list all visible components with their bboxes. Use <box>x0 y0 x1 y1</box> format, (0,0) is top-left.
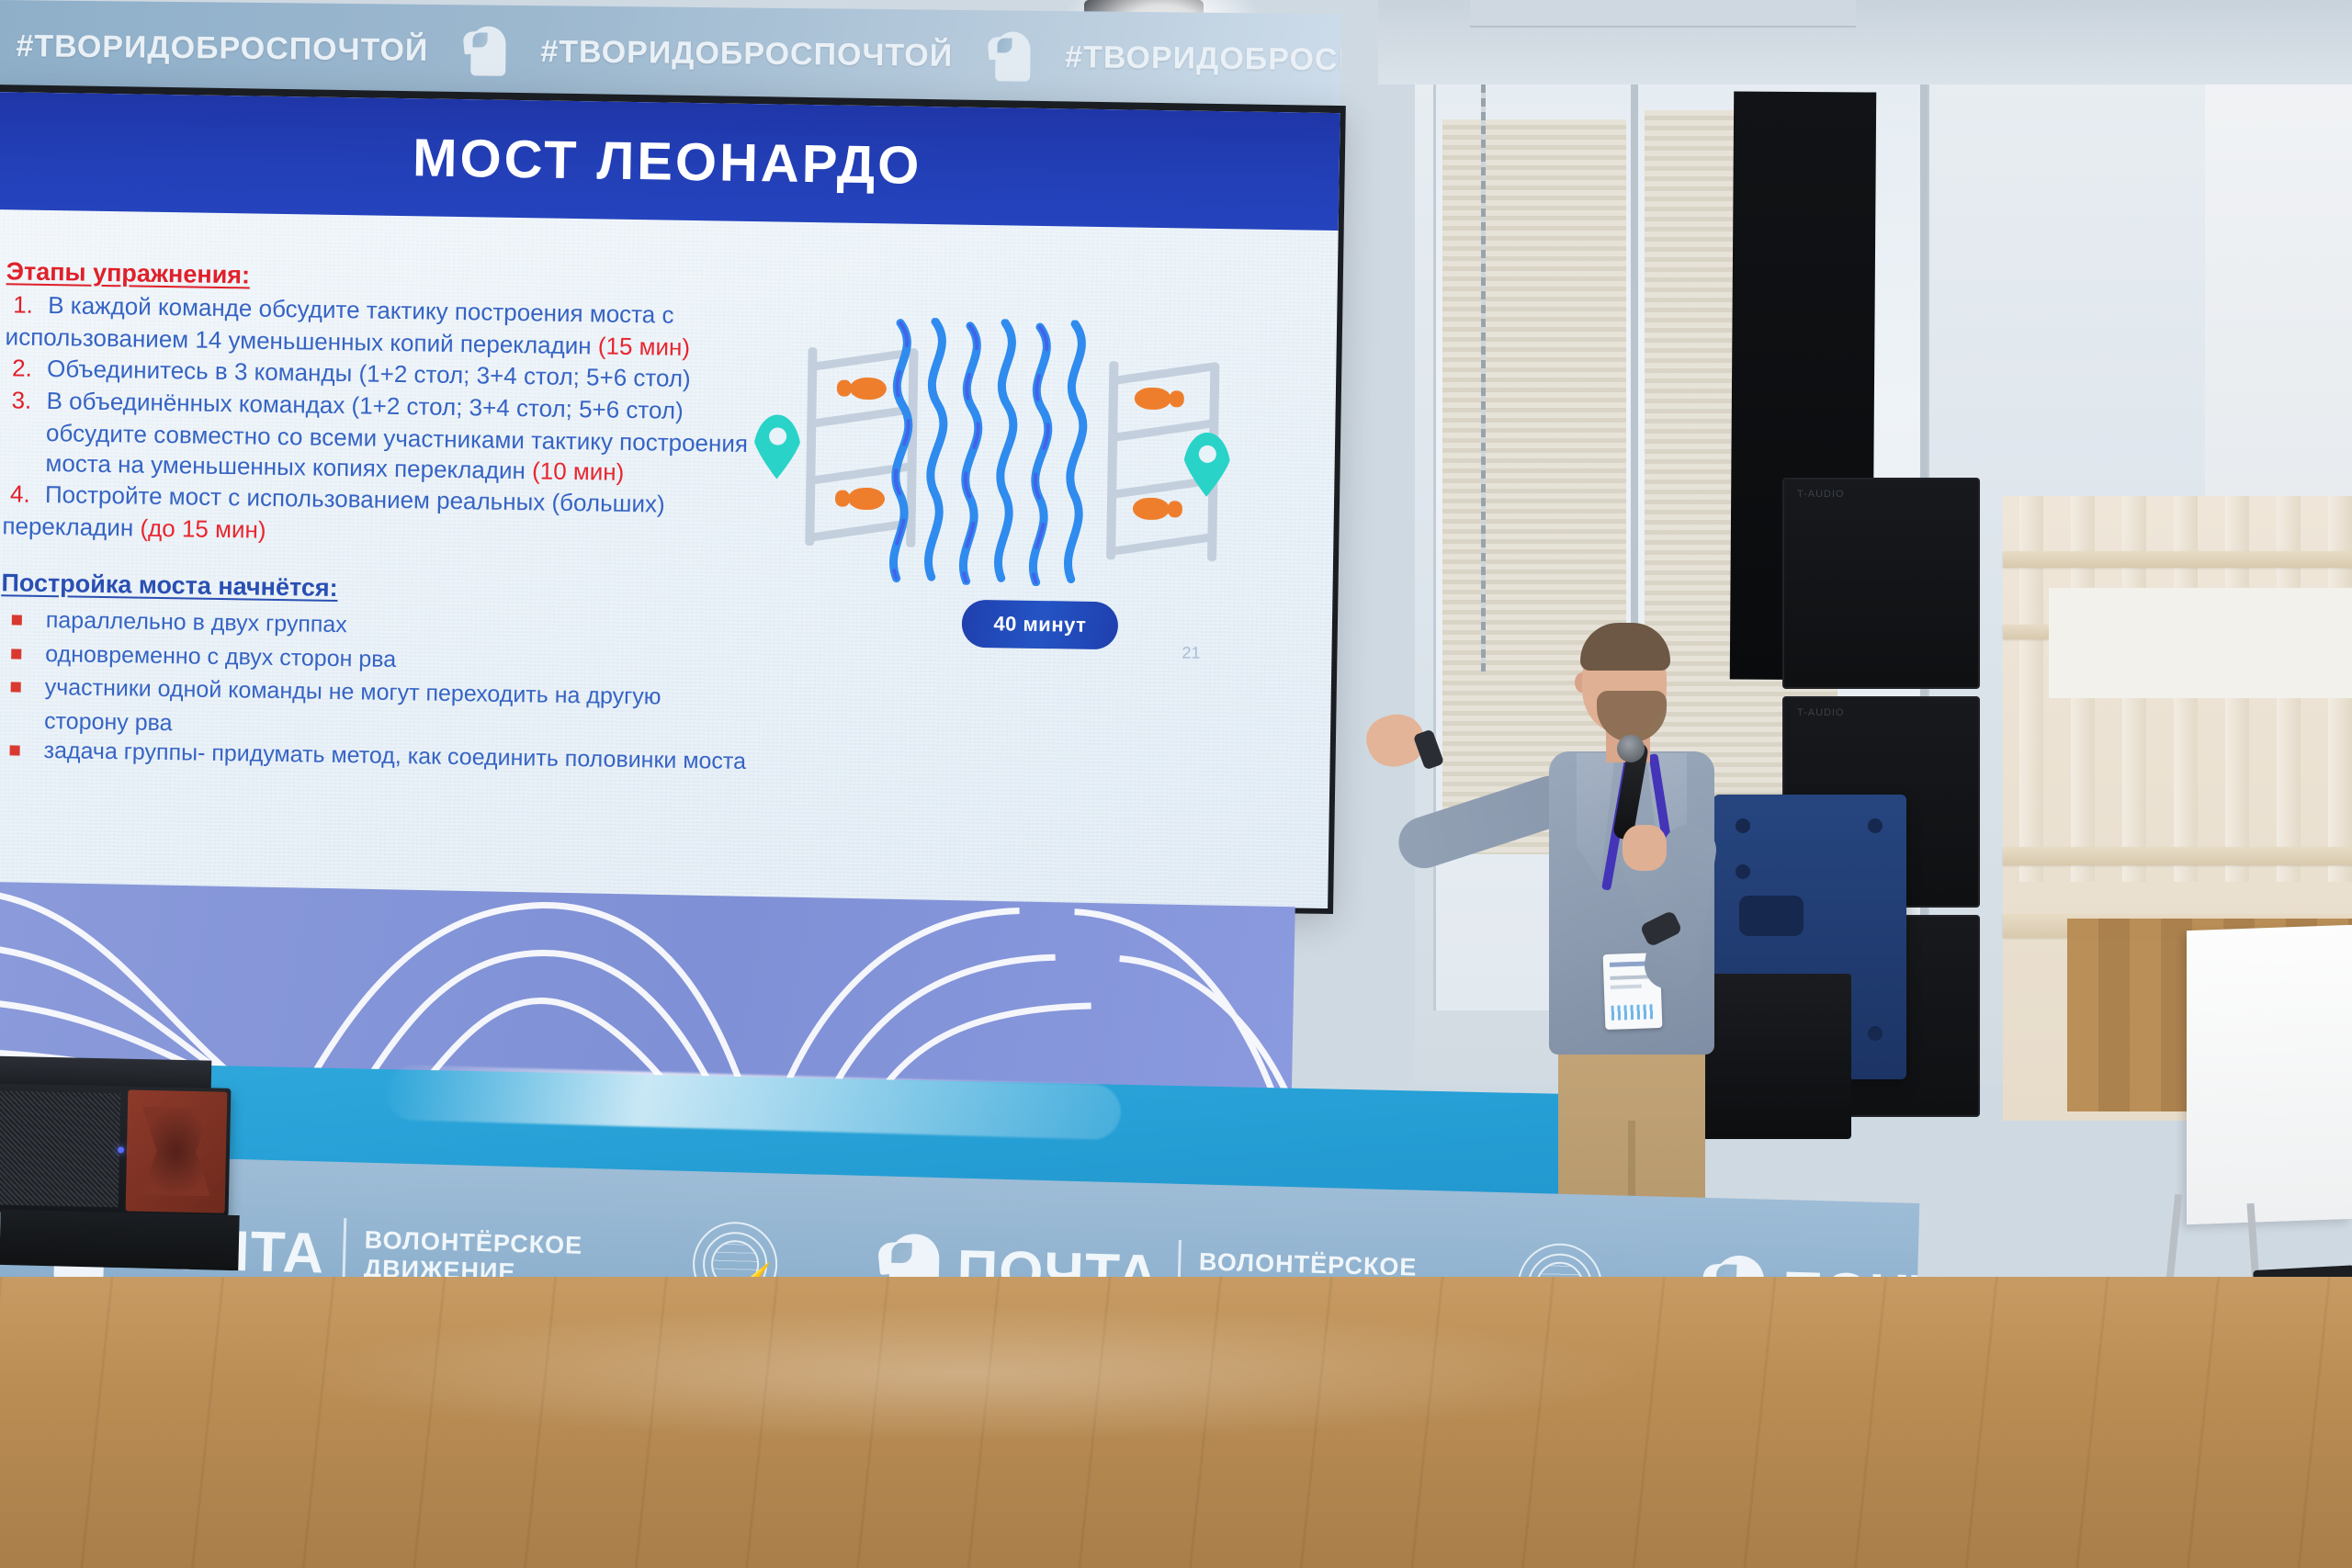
duration-label: (до 15 мин) <box>140 513 266 543</box>
bullet-square-icon <box>12 615 22 626</box>
bullet-text: параллельно в двух группах <box>46 605 347 641</box>
bracelet <box>1413 728 1444 770</box>
footprint-icon <box>1133 498 1182 521</box>
projection-screen: МОСТ ЛЕОНАРДО Этапы упражнения: 1. В каж… <box>0 85 1346 914</box>
bullet-square-icon <box>10 745 20 755</box>
duration-label: (15 мин) <box>598 333 691 362</box>
slide-title: МОСТ ЛЕОНАРДО <box>413 127 922 197</box>
bridge-illustration <box>751 313 1233 596</box>
conference-room-photo: T-AUDIO T-AUDIO T-AUDIO #ТВОРИДОБРОСПОЧТ… <box>0 0 2352 1568</box>
loudspeaker-icon <box>0 1083 231 1217</box>
footprint-icon <box>835 487 885 510</box>
pochta-envelope-icon <box>988 31 1031 81</box>
step-number: 1. <box>6 289 43 321</box>
presenter-hand <box>1623 825 1667 871</box>
power-led-icon <box>118 1146 124 1153</box>
presentation-slide: МОСТ ЛЕОНАРДО Этапы упражнения: 1. В каж… <box>0 92 1340 908</box>
ceiling-strip <box>1470 0 1856 28</box>
slide-page-number: 21 <box>1182 643 1200 662</box>
hanging-chain <box>1481 85 1486 672</box>
footprint-icon <box>1135 388 1184 411</box>
step-number: 3. <box>4 385 41 416</box>
pochta-envelope-icon <box>463 26 506 75</box>
speaker-horn <box>126 1089 228 1213</box>
floor-reflection <box>276 1304 1654 1442</box>
timer-label: 40 минут <box>993 612 1086 637</box>
slide-title-bar: МОСТ ЛЕОНАРДО <box>0 92 1340 231</box>
step-number: 2. <box>5 353 42 384</box>
speaker-grille <box>0 1090 120 1207</box>
duration-label: (10 мин) <box>532 457 625 487</box>
hashtag-text: #ТВОРИДОБРОСПОЧТОЙ <box>16 28 428 69</box>
bullet-text: одновременно с двух сторон рва <box>45 639 396 675</box>
right-wall <box>2205 0 2352 570</box>
brand-tagline-line1: ВОЛОНТЁРСКОЕ <box>364 1225 582 1258</box>
wavy-river-icon <box>888 317 1103 587</box>
bullet-square-icon <box>11 649 21 659</box>
map-pin-icon <box>752 414 801 479</box>
timer-pill[interactable]: 40 минут <box>962 600 1119 650</box>
partition-panel <box>2049 588 2352 698</box>
slide-text-column: Этапы упражнения: 1. В каждой команде об… <box>0 257 760 780</box>
map-pin-icon <box>1182 432 1231 497</box>
flipchart-icon <box>2187 925 2352 1224</box>
hashtag-text: #ТВОРИДОБРОСПОЧТОЙ <box>540 34 953 74</box>
step-number: 4. <box>3 479 40 510</box>
footprint-icon <box>837 378 887 400</box>
loudspeaker-icon: T-AUDIO <box>1782 478 1980 689</box>
stage-monitor <box>0 1210 240 1270</box>
step-text-part: перекладин <box>2 512 140 541</box>
hashtag-text: #ТВОРИДОБРОСПОЧТОЙ <box>1065 39 1341 80</box>
presenter-hair <box>1580 623 1670 671</box>
brand-tagline-line1: ВОЛОНТЁРСКОЕ <box>1199 1247 1418 1280</box>
slide-body: Этапы упражнения: 1. В каждой команде об… <box>0 209 1339 908</box>
bullet-square-icon <box>11 682 21 693</box>
